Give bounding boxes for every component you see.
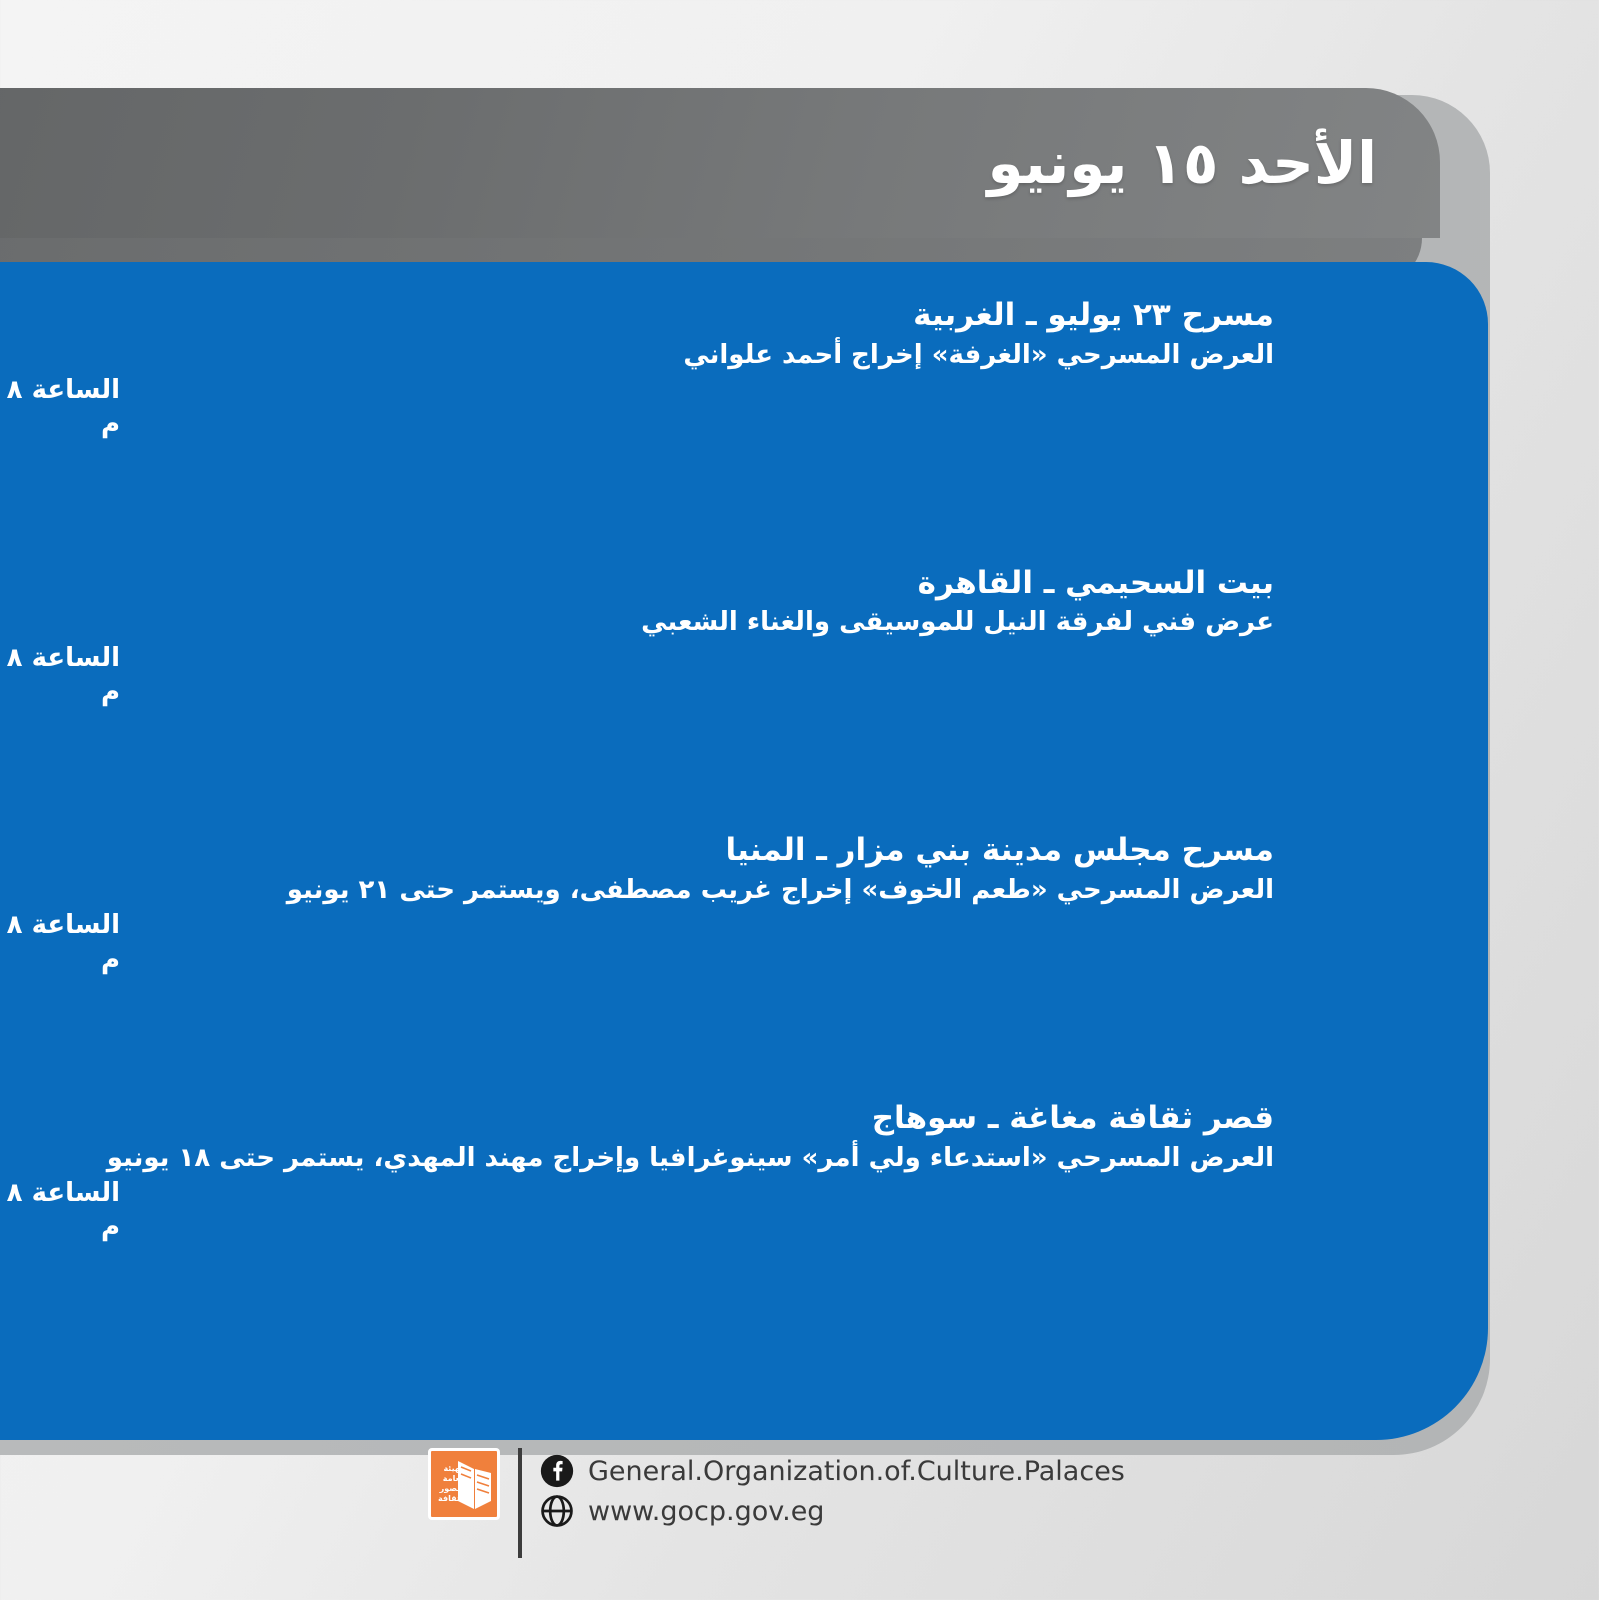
event-item: مسرح ٢٣ يوليو ـ الغربية العرض المسرحي «ا… [0, 296, 1274, 442]
event-item: بيت السحيمي ـ القاهرة عرض فني لفرقة الني… [0, 564, 1274, 710]
social-links: General.Organization.of.Culture.Palaces … [540, 1448, 1125, 1528]
events-panel: مسرح ٢٣ يوليو ـ الغربية العرض المسرحي «ا… [0, 262, 1488, 1440]
facebook-row[interactable]: General.Organization.of.Culture.Palaces [540, 1454, 1125, 1488]
event-item: قصر ثقافة مغاغة ـ سوهاج العرض المسرحي «ا… [0, 1099, 1274, 1245]
event-venue: مسرح مجلس مدينة بني مزار ـ المنيا [0, 831, 1274, 871]
globe-icon[interactable] [540, 1494, 574, 1528]
event-time: الساعة ٨ م [0, 908, 120, 977]
page-title: الأحد ١٥ يونيو [987, 129, 1377, 197]
date-header-wrap: الأحد ١٥ يونيو [0, 134, 1385, 192]
website-url: www.gocp.gov.eg [588, 1498, 824, 1525]
event-time: الساعة ٨ م [0, 1176, 120, 1245]
poster-root: الأحد ١٥ يونيو مسرح ٢٣ يوليو ـ الغربية ا… [0, 0, 1599, 1600]
event-time: الساعة ٨ م [0, 641, 120, 710]
date-header-band: الأحد ١٥ يونيو [0, 88, 1440, 238]
open-book-icon [455, 1459, 493, 1513]
facebook-icon[interactable] [540, 1454, 574, 1488]
website-row[interactable]: www.gocp.gov.eg [540, 1494, 1125, 1528]
events-list: مسرح ٢٣ يوليو ـ الغربية العرض المسرحي «ا… [0, 296, 1274, 1244]
facebook-handle: General.Organization.of.Culture.Palaces [588, 1458, 1125, 1485]
event-item: مسرح مجلس مدينة بني مزار ـ المنيا العرض … [0, 831, 1274, 977]
event-venue: قصر ثقافة مغاغة ـ سوهاج [0, 1099, 1274, 1139]
footer-divider [518, 1448, 522, 1558]
footer-bar: الهيئة العامة لقصور الثقافة [0, 1440, 1599, 1600]
event-description: العرض المسرحي «الغرفة» إخراج أحمد علواني [0, 338, 1274, 372]
event-time: الساعة ٨ م [0, 373, 120, 442]
event-description: العرض المسرحي «استدعاء ولي أمر» سينوغراف… [0, 1141, 1274, 1175]
event-description: العرض المسرحي «طعم الخوف» إخراج غريب مصط… [0, 873, 1274, 907]
event-venue: مسرح ٢٣ يوليو ـ الغربية [0, 296, 1274, 336]
gocp-logo: الهيئة العامة لقصور الثقافة [428, 1448, 500, 1520]
event-description: عرض فني لفرقة النيل للموسيقى والغناء الش… [0, 605, 1274, 639]
event-venue: بيت السحيمي ـ القاهرة [0, 564, 1274, 604]
